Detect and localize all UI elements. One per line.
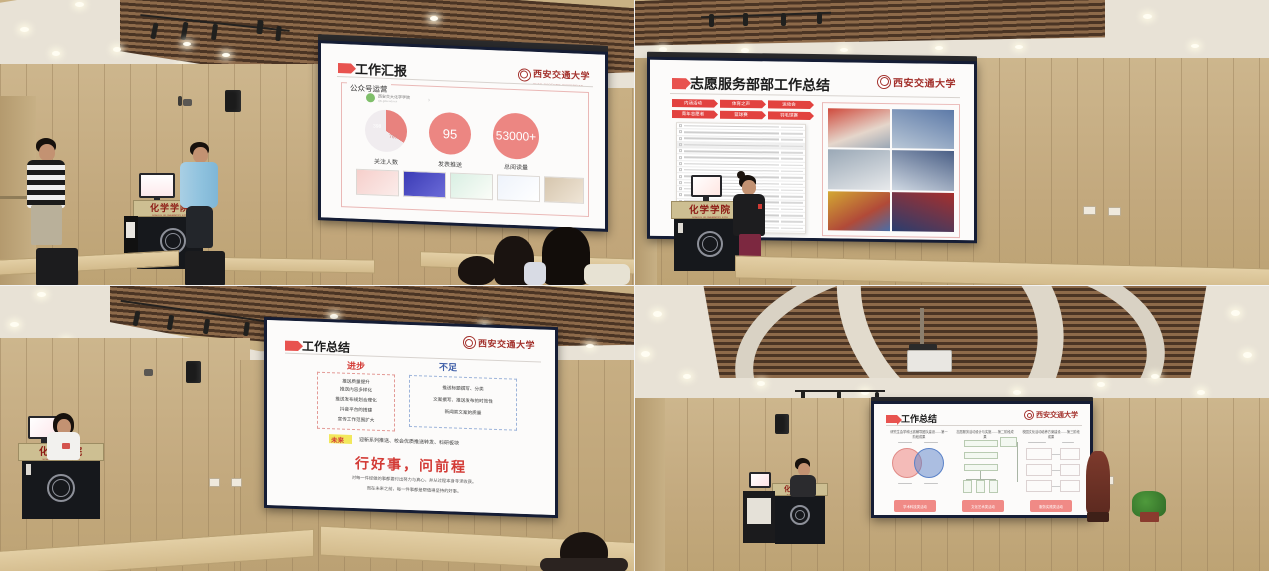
torso xyxy=(790,475,816,497)
wall-outlet xyxy=(231,478,242,487)
wall-outlet xyxy=(1108,207,1121,216)
head xyxy=(742,180,756,195)
flow-leaf xyxy=(963,480,972,493)
ceiling-downlight xyxy=(1151,374,1159,379)
article-thumbnail[interactable] xyxy=(403,171,446,199)
ceiling-downlight xyxy=(757,381,765,386)
ceiling-downlight xyxy=(683,374,691,379)
university-seal-icon xyxy=(518,68,531,82)
pie-value-secondary: 763 xyxy=(389,134,397,140)
audience-shoulder xyxy=(540,558,628,571)
tag-chip[interactable]: 体育之声 xyxy=(720,100,762,109)
matrix-link xyxy=(1052,486,1060,487)
university-seal-icon xyxy=(1024,410,1034,420)
ceiling-downlight xyxy=(840,48,848,52)
podium-monitor[interactable] xyxy=(691,175,722,197)
tag-chip[interactable]: 羽毛球赛 xyxy=(768,111,810,120)
slide-surface: 工作汇报 西安交通大学 XI'AN JIAOTONG UNIVERSITY 公众… xyxy=(321,43,605,228)
ceiling-downlight xyxy=(653,311,662,317)
heading-shortfall: 不足 xyxy=(439,360,457,374)
title-flag-icon xyxy=(886,415,897,423)
account-info: 西安交大化学学院 xjtu-gdsx-edu-cn xyxy=(378,94,410,104)
summary-button-2[interactable]: 文化艺术类活动 xyxy=(962,500,1004,512)
ceiling-downlight xyxy=(1191,44,1199,48)
wall-speaker xyxy=(186,361,201,383)
matrix-cell xyxy=(1060,464,1080,476)
ceiling-downlight xyxy=(75,2,84,7)
university-seal-icon xyxy=(463,336,476,349)
flow-node xyxy=(964,440,998,447)
projection-screen[interactable]: 工作汇报 西安交通大学 XI'AN JIAOTONG UNIVERSITY 公众… xyxy=(318,40,608,232)
torso-black-tshirt xyxy=(733,194,765,236)
ceiling-downlight xyxy=(52,51,60,56)
podium-nameplate-text: 化学学院 xyxy=(689,202,731,216)
torso-striped xyxy=(27,160,65,208)
ceiling-downlight xyxy=(1143,14,1152,19)
matrix-cell xyxy=(1026,480,1052,492)
flow-side-node xyxy=(1000,437,1017,447)
panel-top-left[interactable]: 工作汇报 西安交通大学 XI'AN JIAOTONG UNIVERSITY 公众… xyxy=(0,0,634,285)
tag-chip[interactable]: 青年志愿者 xyxy=(672,110,714,119)
flow-connector xyxy=(980,471,981,479)
panel-bottom-left[interactable]: 工作总结 西安交通大学 进步 不足 推送质量提升 推送内容多样化 推送发布规划合… xyxy=(0,286,634,571)
ceiling-downlight xyxy=(430,16,438,21)
wall-outlet xyxy=(209,478,220,487)
podium-paper xyxy=(26,464,31,475)
university-logo: 西安交通大学 xyxy=(1024,410,1078,420)
event-photo[interactable] xyxy=(892,150,954,190)
future-text: 迎新系列推送、校会优质推送转发、科研板块 xyxy=(359,436,459,446)
ceiling-downlight xyxy=(1197,390,1205,395)
ceiling-downlight xyxy=(20,27,29,32)
metric-circle-posts: 95 xyxy=(429,112,471,156)
title-flag-icon xyxy=(285,340,298,350)
podium-nameplate-text-en: SCHOOL OF CHEMISTRY, XJTU xyxy=(692,216,728,218)
shirt-graphic xyxy=(62,443,70,449)
track-spotlight xyxy=(743,13,748,26)
matrix-cell xyxy=(1060,480,1080,492)
camera-mount xyxy=(178,96,182,106)
monitor-screen xyxy=(693,177,720,195)
slide-work-summary: 工作总结 西安交通大学 进步 不足 推送质量提升 推送内容多样化 推送发布规划合… xyxy=(267,320,555,515)
chevron-right-icon: › xyxy=(428,98,430,104)
event-photo[interactable] xyxy=(828,191,890,231)
future-label: 未来 xyxy=(331,434,344,444)
flow-connector xyxy=(1017,442,1018,482)
wall-speaker xyxy=(225,90,241,112)
podium-paper xyxy=(126,222,135,238)
heading-progress: 进步 xyxy=(347,359,365,373)
ceiling-downlight xyxy=(1097,382,1105,387)
podium-emblem-icon xyxy=(47,474,75,502)
event-photo-grid[interactable] xyxy=(828,108,954,232)
flow-leaf xyxy=(976,480,985,493)
account-avatar-icon xyxy=(366,93,375,102)
matrix-link xyxy=(1052,470,1060,471)
photo-collage: 工作汇报 西安交通大学 XI'AN JIAOTONG UNIVERSITY 公众… xyxy=(0,0,1269,571)
article-thumbnail[interactable] xyxy=(497,174,540,202)
wall-outlet xyxy=(1083,206,1096,215)
event-photo[interactable] xyxy=(828,108,890,148)
podium-emblem-icon xyxy=(790,505,810,525)
pie-value-primary: 398 xyxy=(373,123,381,129)
flow-leaf xyxy=(989,480,998,493)
column-heading-1: 研究生会学科比赛辅导团队建设——第一阶段成果 xyxy=(890,430,948,440)
event-photo[interactable] xyxy=(828,150,890,190)
ceiling-downlight xyxy=(10,322,19,327)
wall-camera xyxy=(144,369,153,376)
ceiling-downlight xyxy=(586,344,594,348)
tag-chip[interactable]: 内涵活动 xyxy=(672,99,714,108)
university-seal-icon xyxy=(877,74,891,88)
slide-title: 工作总结 xyxy=(901,412,937,425)
chair[interactable] xyxy=(36,248,78,285)
header-rule xyxy=(886,425,1082,426)
matrix-col-header xyxy=(1028,442,1046,443)
summary-button-3[interactable]: 服务实践类活动 xyxy=(1030,500,1072,512)
slide-work-summary-matrix: 工作总结 西安交通大学 研究生会学科比赛辅导团队建设——第一阶段成果 志愿服务活… xyxy=(874,404,1090,515)
ceiling-downlight xyxy=(113,47,121,52)
wall-speaker-left xyxy=(775,414,789,434)
summary-button-1[interactable]: 学术科技类活动 xyxy=(894,500,936,512)
header-rule xyxy=(285,353,541,363)
university-name: 西安交通大学 xyxy=(893,74,956,90)
rack-panel xyxy=(747,498,771,524)
chair[interactable] xyxy=(185,251,225,285)
panel-top-right[interactable]: 志愿服务部部工作总结 西安交通大学 内涵活动 体育之声 运动会 青年志愿者 篮球… xyxy=(635,0,1269,285)
legs xyxy=(31,205,62,245)
projector-pole xyxy=(920,308,924,346)
ceiling-projector xyxy=(907,350,952,372)
event-photo[interactable] xyxy=(892,109,954,149)
flow-node xyxy=(964,464,998,471)
ceiling-downlight xyxy=(935,46,943,50)
audience-head xyxy=(458,256,496,285)
metric-pie-chart xyxy=(365,109,407,153)
metric-label-reads: 总阅读量 xyxy=(493,161,539,172)
ceiling-downlight xyxy=(1015,45,1023,49)
track-spotlight xyxy=(817,12,822,24)
university-logo: 西安交通大学 xyxy=(463,336,535,352)
audience-shoulder xyxy=(524,262,546,285)
tag-chip[interactable]: 运动会 xyxy=(768,100,810,109)
ceiling-downlight xyxy=(1013,390,1021,395)
hair-bun xyxy=(737,171,745,179)
title-flag-icon xyxy=(672,78,686,89)
head xyxy=(39,144,55,161)
event-photo[interactable] xyxy=(892,192,954,232)
column-heading-3: 校园文化活动培养方案建设——第三阶段成果 xyxy=(1022,430,1080,440)
venn-label xyxy=(924,442,938,443)
article-thumbnail[interactable] xyxy=(450,172,493,200)
podium-emblem-icon xyxy=(697,231,723,257)
venn-label xyxy=(924,483,938,484)
monitor-screen xyxy=(751,474,769,486)
podium-paper xyxy=(678,223,683,233)
slide-surface: 工作总结 西安交通大学 进步 不足 推送质量提升 推送内容多样化 推送发布规划合… xyxy=(267,320,555,515)
metric-label-posts: 发表推送 xyxy=(429,159,471,170)
university-name: 西安交通大学 xyxy=(1036,410,1078,420)
ceiling-downlight xyxy=(1231,310,1240,316)
venn-label xyxy=(898,442,912,443)
projection-screen[interactable]: 工作总结 西安交通大学 研究生会学科比赛辅导团队建设——第一阶段成果 志愿服务活… xyxy=(871,401,1093,518)
university-name: 西安交通大学 xyxy=(478,336,535,351)
matrix-link xyxy=(1052,454,1060,455)
audience-shoulder xyxy=(584,264,630,285)
projection-screen[interactable]: 工作总结 西安交通大学 进步 不足 推送质量提升 推送内容多样化 推送发布规划合… xyxy=(264,317,558,518)
podium-nameplate-text-en: SCHOOL OF CHEMISTRY, XJTU xyxy=(152,214,188,216)
plant-pot xyxy=(1140,512,1159,522)
legs xyxy=(186,206,213,248)
title-flag-icon xyxy=(338,62,351,73)
monitor-screen xyxy=(141,175,173,196)
venn-circle-right xyxy=(914,448,944,478)
shirt-logo xyxy=(758,204,762,209)
track-spotlight xyxy=(781,13,786,26)
article-thumbnail[interactable] xyxy=(356,169,399,197)
matrix-cell xyxy=(1026,448,1052,460)
slide-title: 志愿服务部部工作总结 xyxy=(690,73,830,95)
ceiling-downlight xyxy=(1243,352,1252,358)
article-thumbnail[interactable] xyxy=(544,176,584,204)
university-name: 西安交通大学 xyxy=(533,69,590,81)
metric-label-followers: 关注人数 xyxy=(365,156,407,167)
university-logo: 西安交通大学 xyxy=(877,74,956,90)
venn-label xyxy=(898,483,912,484)
wall-corner-left xyxy=(635,398,665,571)
podium-monitor[interactable] xyxy=(139,173,175,198)
torso-blue-shirt xyxy=(180,162,218,208)
wooden-statue xyxy=(1086,451,1110,513)
ceiling-downlight xyxy=(641,351,650,357)
statue-base xyxy=(1087,512,1109,522)
ceiling-downlight xyxy=(37,292,46,297)
slide-work-report: 工作汇报 西安交通大学 XI'AN JIAOTONG UNIVERSITY 公众… xyxy=(321,43,605,228)
panel-bottom-right[interactable]: 工作总结 西安交通大学 研究生会学科比赛辅导团队建设——第一阶段成果 志愿服务活… xyxy=(635,286,1269,571)
matrix-cell xyxy=(1026,464,1052,476)
tag-chip[interactable]: 篮球赛 xyxy=(720,111,762,120)
matrix-col-header xyxy=(1062,442,1074,443)
track-spotlight xyxy=(709,14,714,27)
slide-surface: 工作总结 西安交通大学 研究生会学科比赛辅导团队建设——第一阶段成果 志愿服务活… xyxy=(874,404,1090,515)
wall-camera xyxy=(183,99,192,106)
podium-monitor[interactable] xyxy=(749,472,771,488)
matrix-cell xyxy=(1060,448,1080,460)
ceiling-white-right xyxy=(1105,0,1269,48)
flow-node xyxy=(964,452,998,459)
ceiling-downlight xyxy=(222,53,230,57)
ceiling-downlight xyxy=(183,42,191,46)
head xyxy=(193,147,208,163)
audience-head xyxy=(542,227,590,285)
